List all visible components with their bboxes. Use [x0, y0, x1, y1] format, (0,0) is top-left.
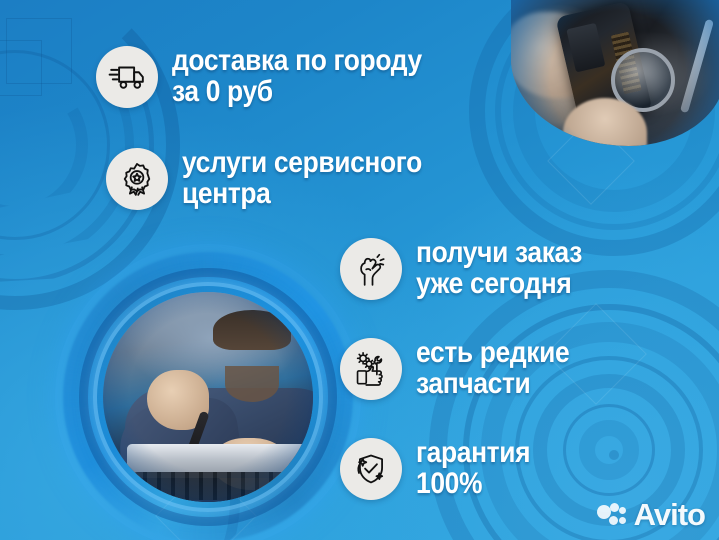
- feature-rare-parts: есть редкие запчасти: [340, 338, 590, 400]
- snapping-fingers-icon: [340, 238, 402, 300]
- feature-service-centre-label: услуги сервисного центра: [182, 148, 422, 209]
- feature-service-centre: услуги сервисного центра: [106, 148, 455, 210]
- gears-thumbs-up-icon: [340, 338, 402, 400]
- feature-warranty: гарантия 100%: [340, 438, 546, 500]
- feature-delivery-label: доставка по городу за 0 руб: [172, 46, 422, 107]
- delivery-truck-icon: [96, 46, 158, 108]
- phone-repair-photo: [511, 0, 719, 146]
- shield-check-icon: [340, 438, 402, 500]
- avito-dots-logo: [597, 503, 627, 527]
- promo-banner: доставка по городу за 0 руб услуги серви…: [0, 0, 719, 540]
- avito-wordmark: Avito: [634, 499, 705, 530]
- hud-square: [0, 40, 42, 96]
- feature-same-day-label: получи заказ уже сегодня: [416, 238, 582, 299]
- award-badge-icon: [106, 148, 168, 210]
- feature-rare-parts-label: есть редкие запчасти: [416, 338, 569, 399]
- technician-photo: [63, 252, 353, 540]
- avito-watermark: Avito: [597, 499, 705, 530]
- feature-warranty-label: гарантия 100%: [416, 438, 530, 499]
- feature-delivery: доставка по городу за 0 руб: [96, 46, 456, 108]
- feature-same-day: получи заказ уже сегодня: [340, 238, 605, 300]
